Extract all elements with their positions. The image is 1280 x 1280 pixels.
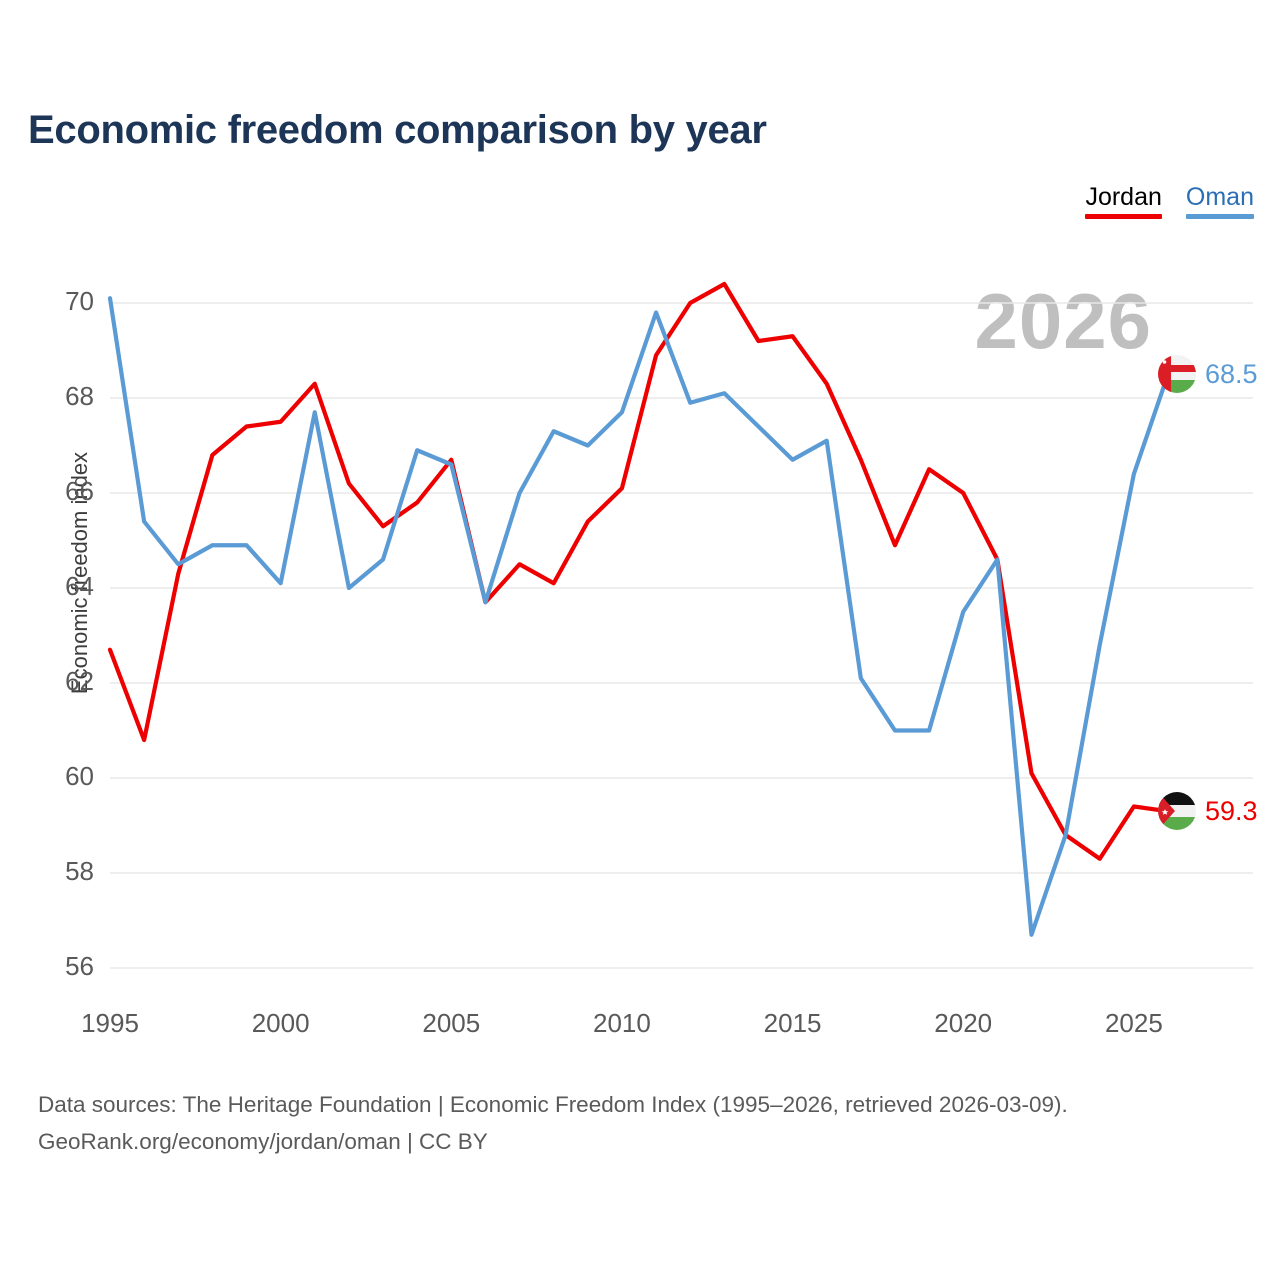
y-tick-label: 62 [34,666,94,697]
y-tick-label: 68 [34,381,94,412]
x-tick-label: 2005 [406,1008,496,1039]
x-tick-label: 2025 [1089,1008,1179,1039]
x-tick-label: 2020 [918,1008,1008,1039]
x-tick-label: 1995 [65,1008,155,1039]
x-tick-label: 2000 [236,1008,326,1039]
y-tick-label: 58 [34,856,94,887]
y-tick-label: 56 [34,951,94,982]
oman-flag-icon [1158,355,1196,393]
y-tick-label: 64 [34,571,94,602]
oman-endpoint: 68.5 [1158,355,1258,393]
x-tick-label: 2015 [748,1008,838,1039]
y-tick-label: 60 [34,761,94,792]
footer-line-1: Data sources: The Heritage Foundation | … [38,1086,1068,1123]
series-line-oman [110,298,1168,935]
footer-sources: Data sources: The Heritage Foundation | … [38,1086,1068,1160]
jordan-endpoint: 59.3 [1158,792,1258,830]
jordan-flag-icon [1158,792,1196,830]
x-tick-label: 2010 [577,1008,667,1039]
y-tick-label: 70 [34,286,94,317]
y-tick-label: 66 [34,476,94,507]
footer-line-2: GeoRank.org/economy/jordan/oman | CC BY [38,1123,1068,1160]
oman-endpoint-value: 68.5 [1205,359,1258,390]
jordan-endpoint-value: 59.3 [1205,796,1258,827]
